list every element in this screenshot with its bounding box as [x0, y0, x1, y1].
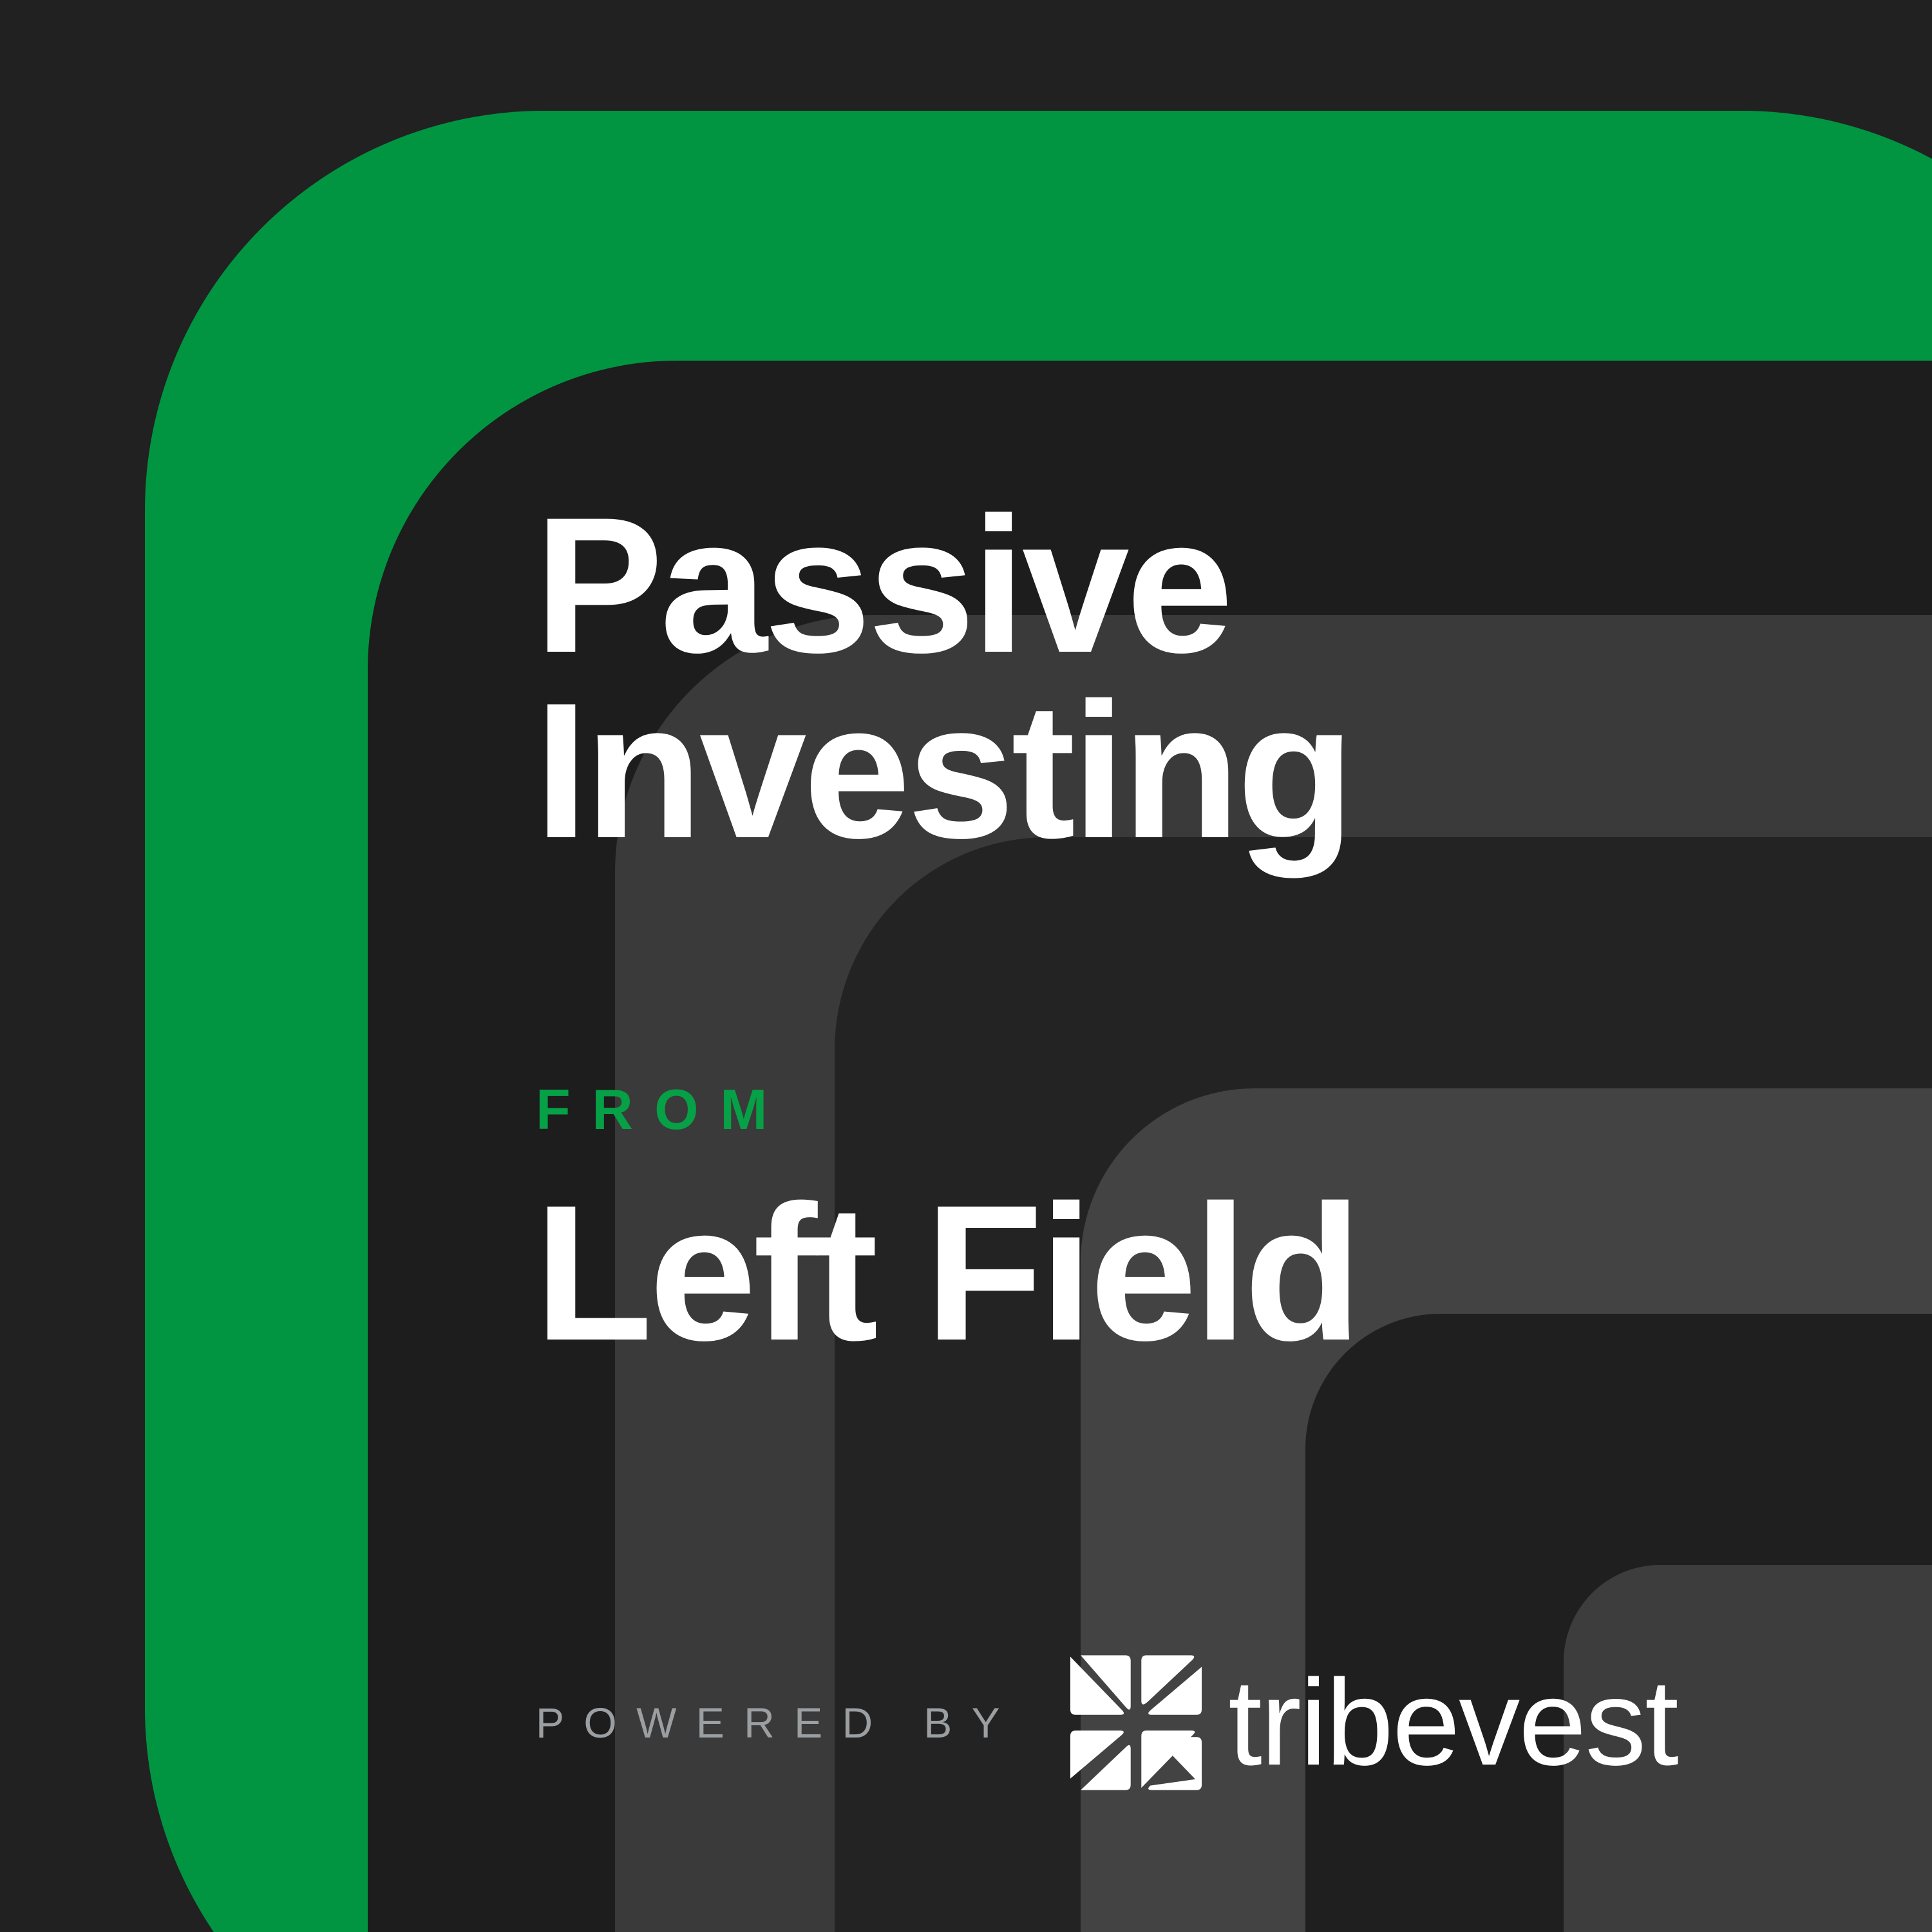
tribevest-pinwheel-icon	[1066, 1653, 1206, 1793]
powered-by-label: POWERED BY	[536, 1701, 1019, 1744]
powered-by-footer: POWERED BY tribevest	[536, 1649, 1678, 1797]
title-line-investing: Investing	[535, 681, 1351, 859]
tribevest-logo: tribevest	[1066, 1653, 1678, 1793]
title-block: Passive Investing FROM Left Field	[0, 0, 1932, 1932]
title-connector-from: FROM	[536, 1077, 789, 1142]
tribevest-wordmark: tribevest	[1228, 1662, 1678, 1784]
podcast-cover-art: Passive Investing FROM Left Field POWERE…	[0, 0, 1932, 1932]
title-line-left-field: Left Field	[535, 1184, 1358, 1361]
title-line-passive: Passive	[535, 496, 1230, 674]
